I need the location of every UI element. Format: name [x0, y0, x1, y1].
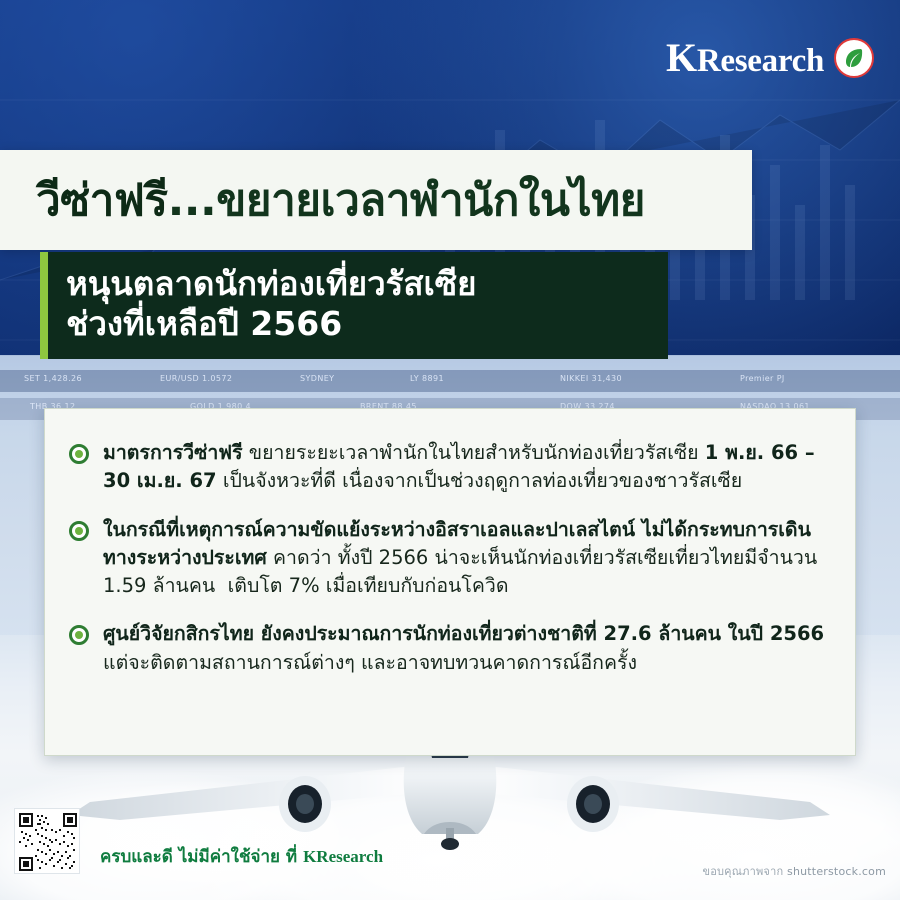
bullet-text: มาตรการวีซ่าฟรี ขยายระยะเวลาพำนักในไทยสำ…: [103, 439, 827, 496]
qr-code-icon[interactable]: [14, 808, 80, 874]
footer-slogan-text: ครบและดี ไม่มีค่าใช้จ่าย ที่: [100, 843, 297, 870]
footer-slogan-brand: KResearch: [303, 847, 383, 867]
bullet-dot-icon: [69, 444, 89, 464]
list-item: ในกรณีที่เหตุการณ์ความขัดแย้งระหว่างอิสร…: [69, 516, 827, 601]
headline-primary-text: วีซ่าฟรี...ขยายเวลาพำนักในไทย: [36, 165, 645, 235]
ticker-item: SET 1,428.26: [24, 374, 82, 383]
headline-secondary-text: หนุนตลาดนักท่องเที่ยวรัสเซีย ช่วงที่เหลื…: [66, 264, 477, 345]
image-credit-source: shutterstock.com: [787, 865, 886, 878]
headline-lead: วีซ่าฟรี: [36, 175, 168, 226]
image-credit-label: ขอบคุณภาพจาก: [702, 865, 783, 878]
image-credit: ขอบคุณภาพจาก shutterstock.com: [702, 862, 886, 880]
ticker-row-1: SET 1,428.26 EUR/USD 1.0572 SYDNEY LY 88…: [0, 370, 900, 392]
leaf-icon: [834, 38, 874, 78]
logo-text: KResearch: [666, 34, 824, 81]
ticker-item: EUR/USD 1.0572: [160, 374, 232, 383]
logo-text-rest: Research: [697, 43, 824, 79]
list-item: ศูนย์วิจัยกสิกรไทย ยังคงประมาณการนักท่อง…: [69, 620, 827, 677]
ticker-item: LY 8891: [410, 374, 444, 383]
headline-secondary: หนุนตลาดนักท่องเที่ยวรัสเซีย ช่วงที่เหลื…: [40, 252, 668, 359]
ticker-item: Premier PJ: [740, 374, 785, 383]
headline-rest: ...ขยายเวลาพำนักในไทย: [168, 175, 645, 226]
accent-bar: [40, 252, 48, 359]
bullet-text: ในกรณีที่เหตุการณ์ความขัดแย้งระหว่างอิสร…: [103, 516, 827, 601]
headline-primary: วีซ่าฟรี...ขยายเวลาพำนักในไทย: [0, 150, 752, 250]
content-card: มาตรการวีซ่าฟรี ขยายระยะเวลาพำนักในไทยสำ…: [44, 408, 856, 756]
bullet-text: ศูนย์วิจัยกสิกรไทย ยังคงประมาณการนักท่อง…: [103, 620, 827, 677]
kresearch-logo: KResearch: [666, 34, 874, 81]
bullet-dot-icon: [69, 625, 89, 645]
headline-line2: หนุนตลาดนักท่องเที่ยวรัสเซีย: [66, 264, 477, 304]
ticker-item: SYDNEY: [300, 374, 334, 383]
headline-line3: ช่วงที่เหลือปี 2566: [66, 304, 477, 344]
ticker-item: NIKKEI 31,430: [560, 374, 622, 383]
logo-text-k: K: [666, 35, 697, 80]
footer-slogan: ครบและดี ไม่มีค่าใช้จ่าย ที่ KResearch: [100, 843, 383, 870]
bullet-list: มาตรการวีซ่าฟรี ขยายระยะเวลาพำนักในไทยสำ…: [69, 439, 827, 677]
poster-root: SET 1,428.26 EUR/USD 1.0572 SYDNEY LY 88…: [0, 0, 900, 900]
bullet-dot-icon: [69, 521, 89, 541]
list-item: มาตรการวีซ่าฟรี ขยายระยะเวลาพำนักในไทยสำ…: [69, 439, 827, 496]
